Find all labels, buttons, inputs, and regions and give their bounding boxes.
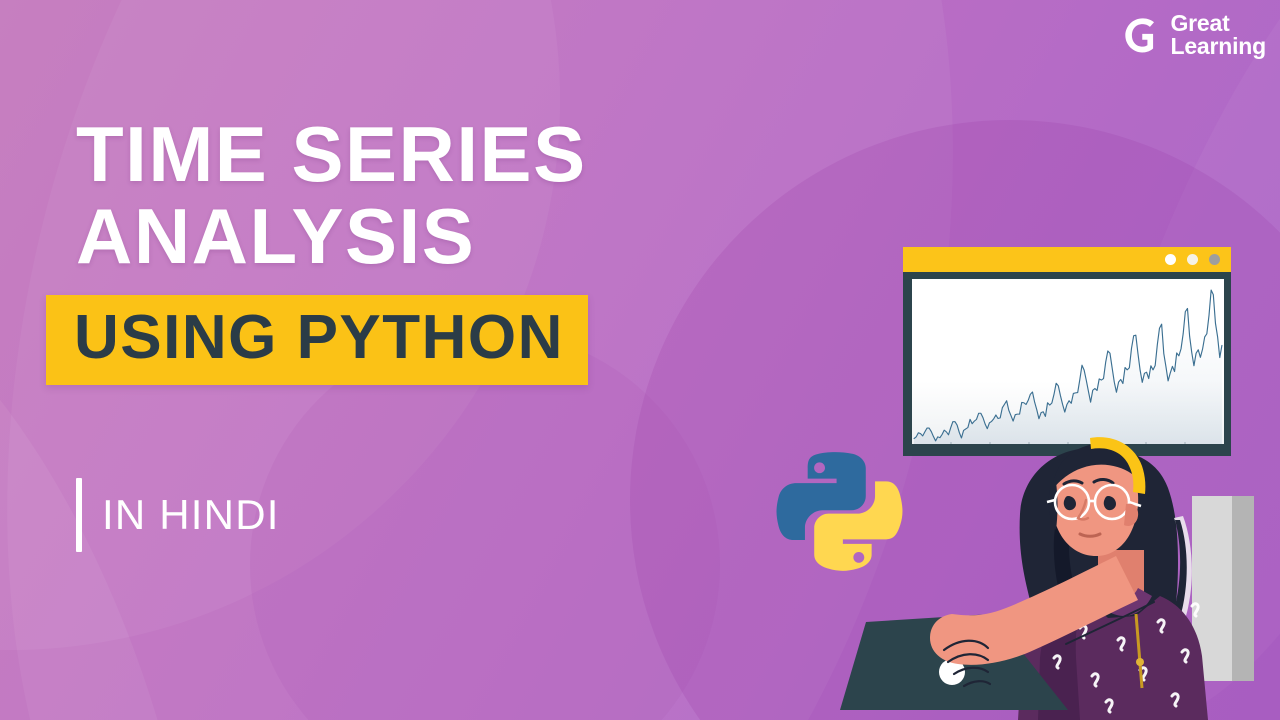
youtube-thumbnail: Great Learning TIME SERIES ANALYSIS USIN… <box>0 0 1280 720</box>
brand-name-line2: Learning <box>1170 35 1266 58</box>
subtitle-block: IN HINDI <box>76 478 280 552</box>
subtitle-text: IN HINDI <box>102 491 280 539</box>
brand-name-line1: Great <box>1170 12 1266 35</box>
subtitle-accent-bar <box>76 478 82 552</box>
browser-title-bar <box>903 247 1231 272</box>
headline-block: TIME SERIES ANALYSIS USING PYTHON <box>76 116 776 385</box>
headline-line-2: ANALYSIS <box>76 198 776 274</box>
window-dot-gray-icon <box>1209 254 1220 265</box>
window-dot-white-icon <box>1165 254 1176 265</box>
woman-with-laptop-illustration <box>840 400 1280 720</box>
headline-highlight-box: USING PYTHON <box>46 295 588 385</box>
headline-line-1: TIME SERIES <box>76 116 776 192</box>
window-dot-cream-icon <box>1187 254 1198 265</box>
brand-logo-text: Great Learning <box>1170 12 1266 57</box>
headline-highlight-text: USING PYTHON <box>74 307 564 369</box>
brand-logo: Great Learning <box>1122 12 1266 57</box>
great-learning-g-icon <box>1122 15 1162 55</box>
